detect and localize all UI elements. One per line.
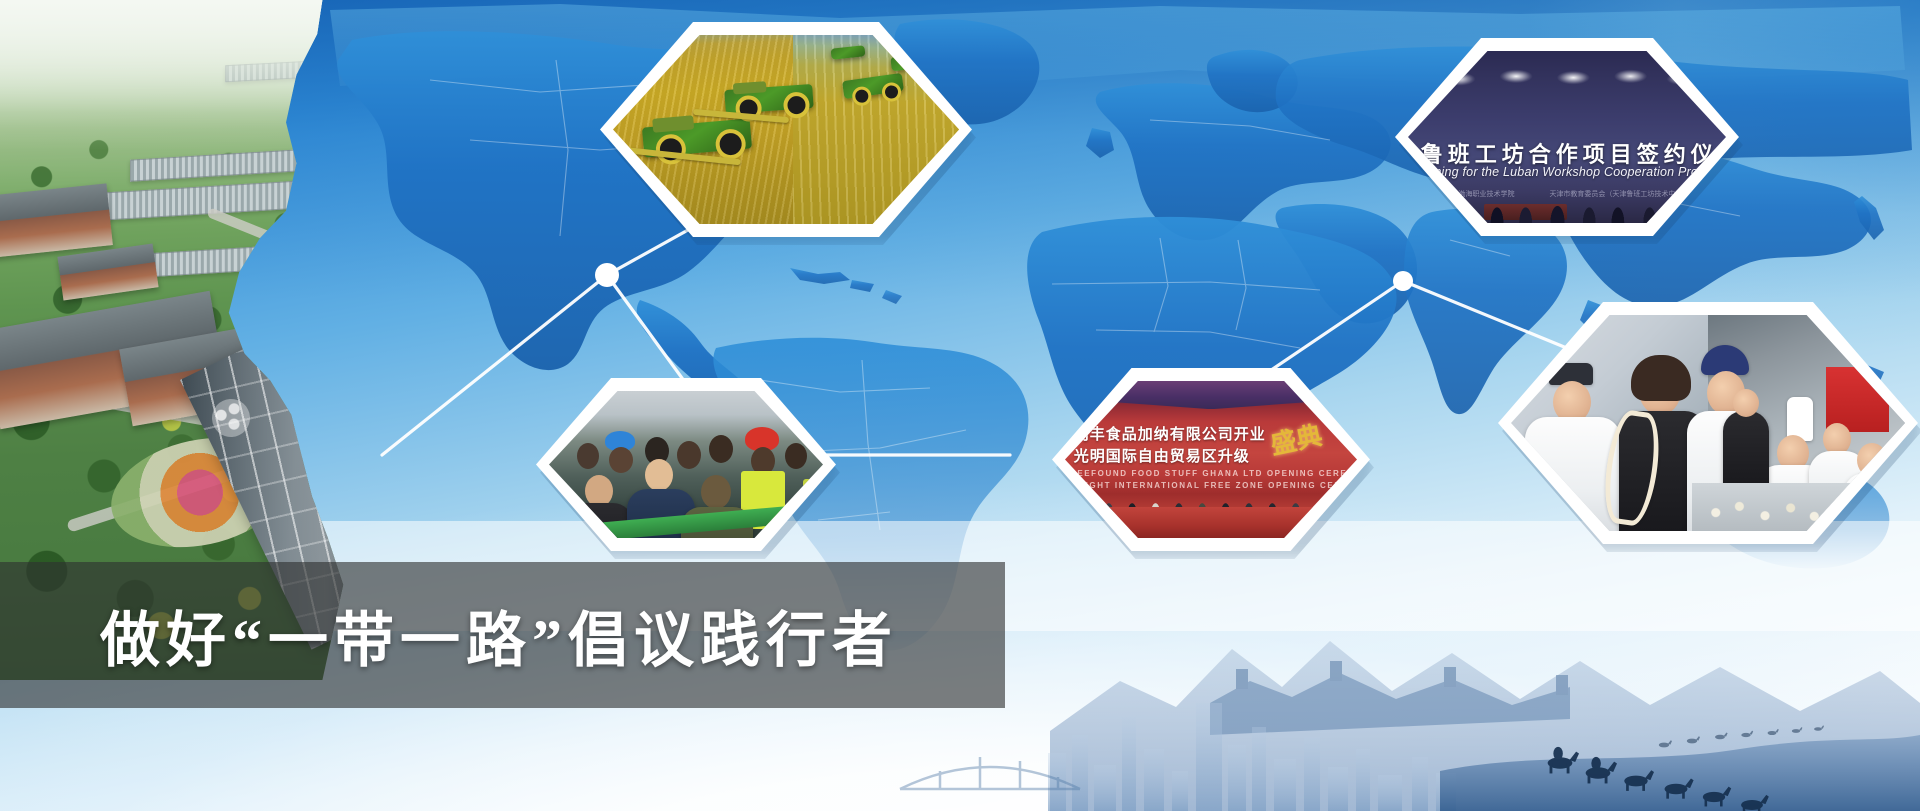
stage-lights <box>1408 61 1726 106</box>
staff-face <box>1733 389 1759 417</box>
delegate-head <box>701 475 731 509</box>
page-title: 做好“一带一路”倡议践行者 <box>0 562 1005 708</box>
hero-banner: 鲁班工坊合作项目签约仪式 Signing for the Luban Works… <box>0 0 1920 811</box>
delegate-head <box>645 459 673 491</box>
luban-stage-title-en: Signing for the Luban Workshop Cooperati… <box>1414 165 1719 179</box>
visitor-hair <box>1631 355 1691 401</box>
combine-harvester <box>724 84 813 114</box>
